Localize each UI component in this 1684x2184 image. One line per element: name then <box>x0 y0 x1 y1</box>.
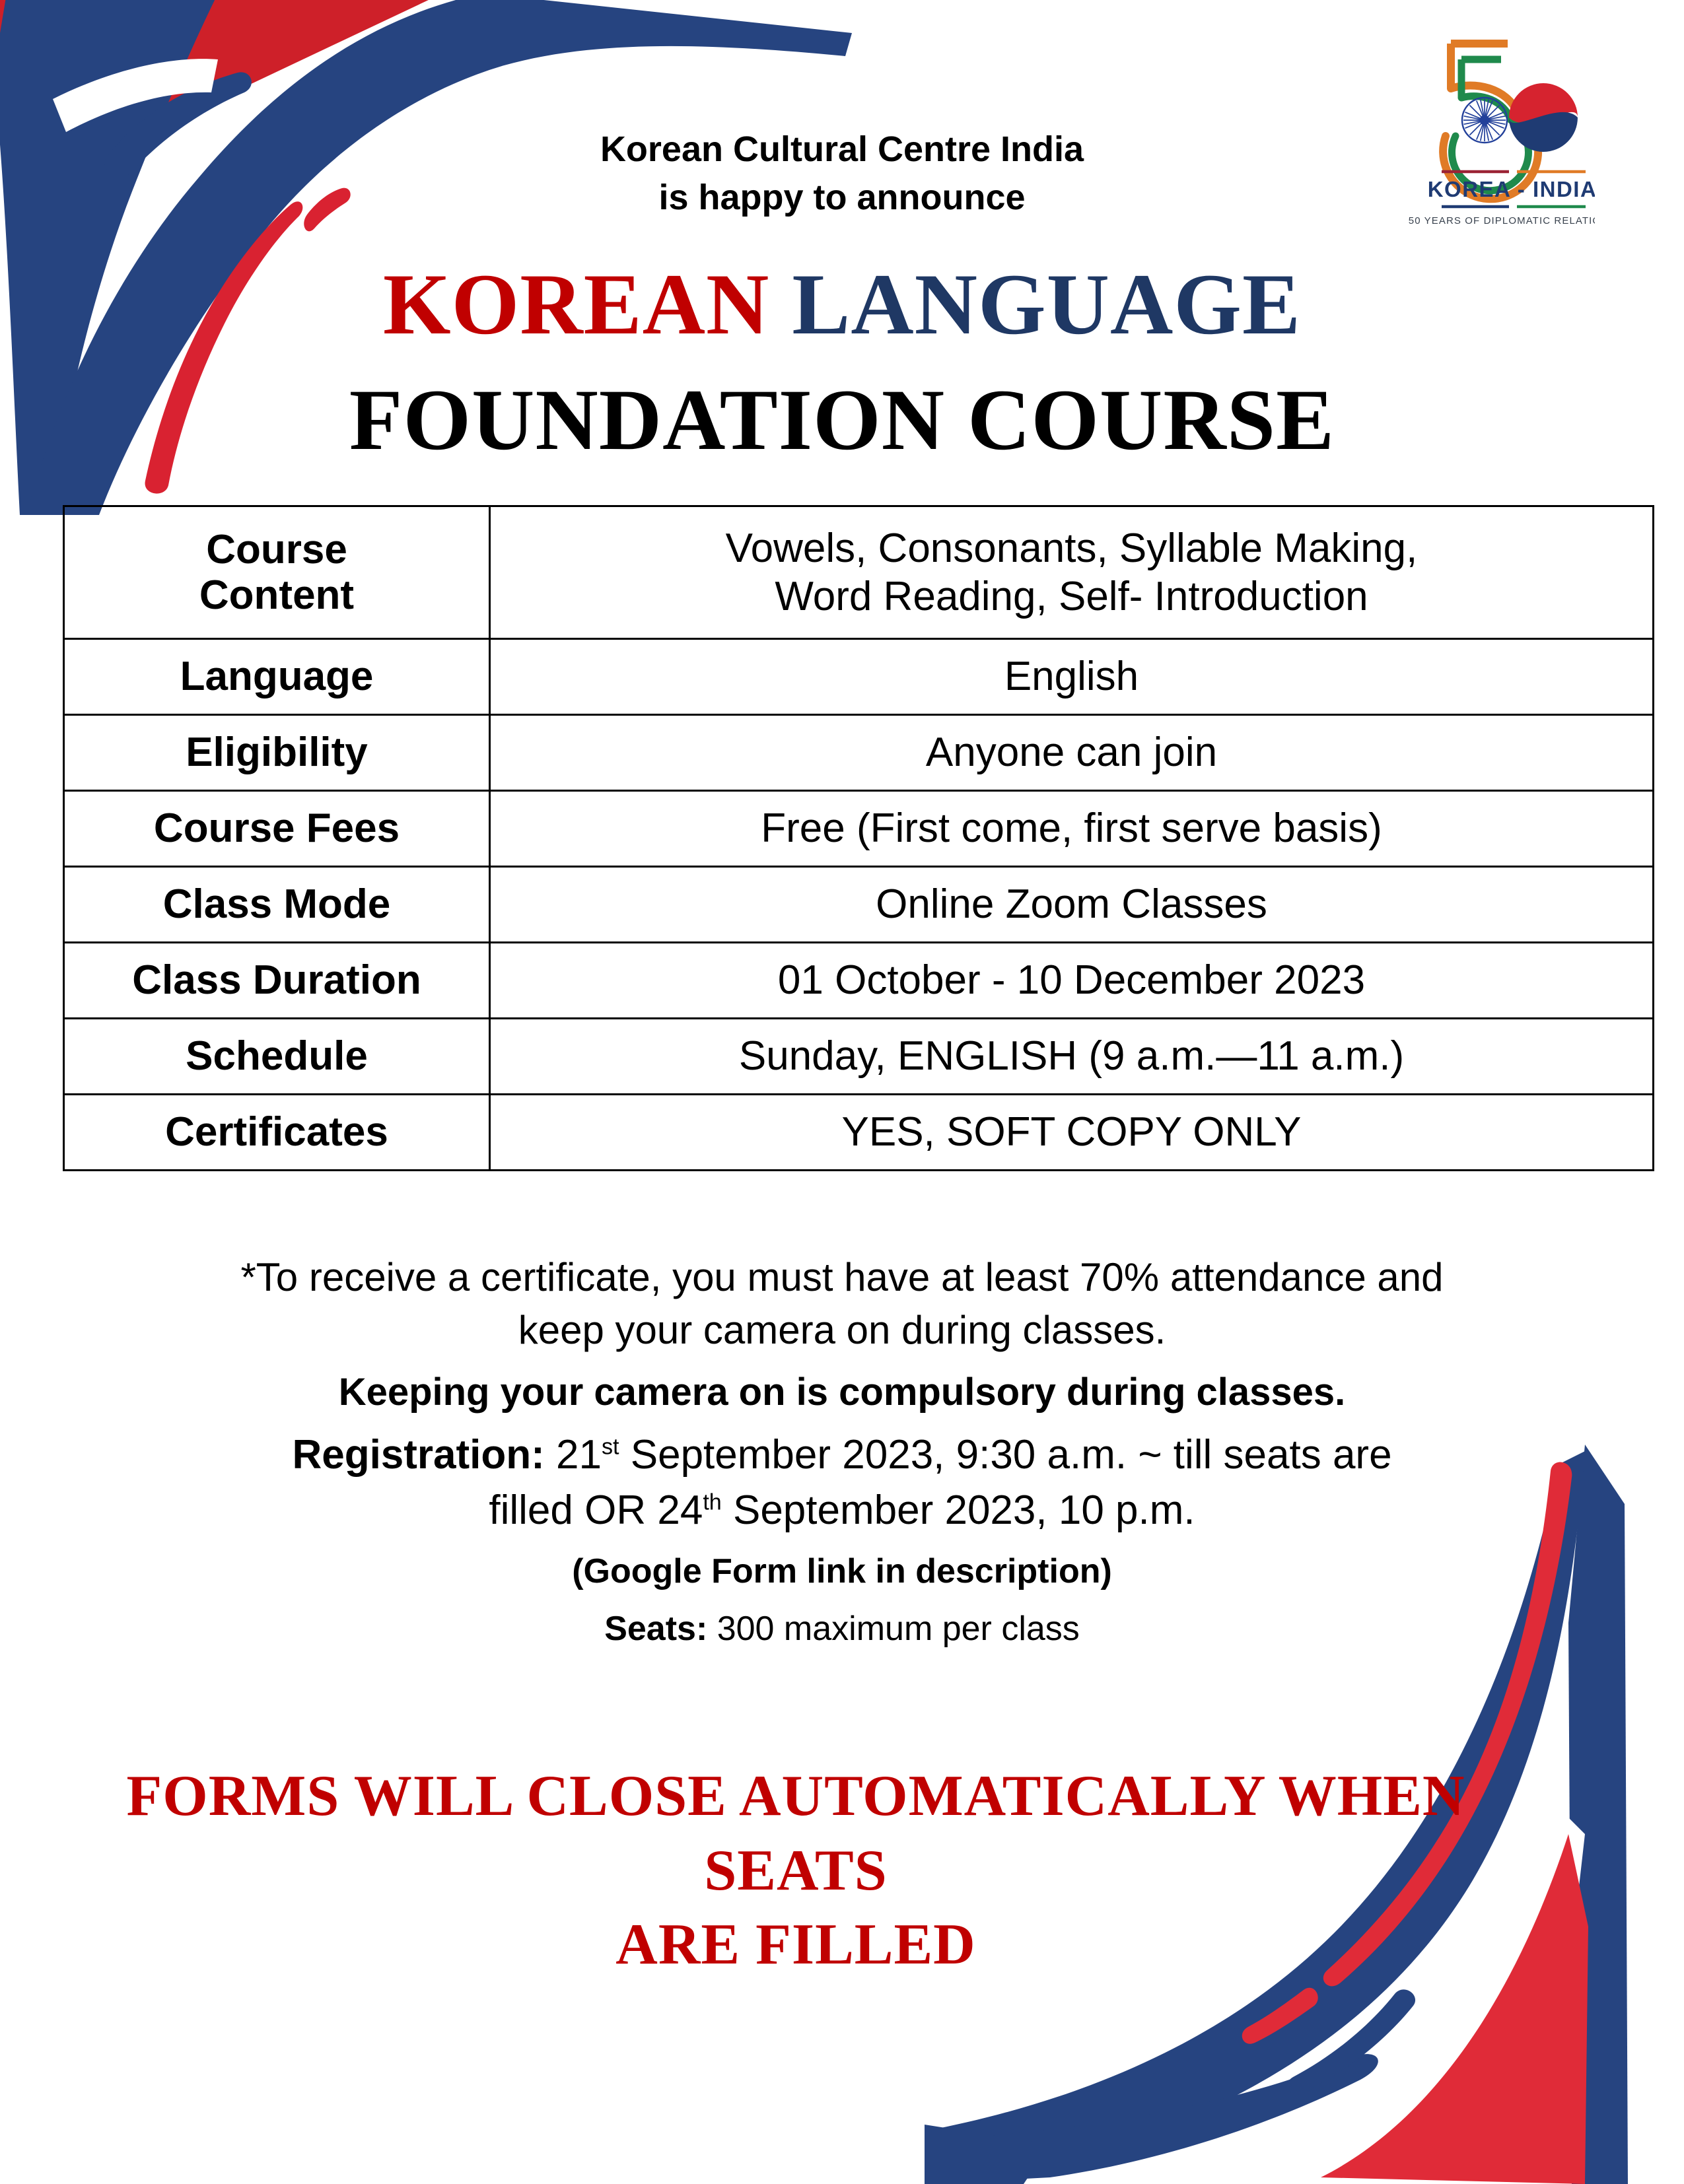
announcement-header: Korean Cultural Centre India is happy to… <box>0 125 1684 222</box>
page-subtitle: FOUNDATION COURSE <box>0 376 1684 463</box>
registration-text-2: September 2023, 10 p.m. <box>722 1487 1195 1533</box>
table-row: Eligibility Anyone can join <box>64 715 1654 791</box>
registration-day-1: 21 <box>556 1432 602 1478</box>
seats-value: 300 maximum per class <box>707 1610 1080 1648</box>
row-label-class-duration: Class Duration <box>64 943 490 1019</box>
notes-section: *To receive a certificate, you must have… <box>40 1251 1644 1652</box>
row-value-language: English <box>490 639 1654 715</box>
value-line-2: Word Reading, Self- Introduction <box>500 572 1643 621</box>
registration-text-1: September 2023, 9:30 a.m. ~ till seats a… <box>619 1432 1392 1478</box>
course-info-table: Course Content Vowels, Consonants, Sylla… <box>63 505 1654 1171</box>
registration-day-2: 24 <box>657 1487 703 1533</box>
certificate-note-line-2: keep your camera on during classes. <box>40 1304 1644 1357</box>
row-label-eligibility: Eligibility <box>64 715 490 791</box>
table-row: Course Content Vowels, Consonants, Sylla… <box>64 506 1654 639</box>
registration-day-2-suffix: th <box>703 1489 721 1515</box>
registration-label: Registration: <box>292 1432 544 1478</box>
seats-label: Seats: <box>604 1610 707 1648</box>
seats-line: Seats: 300 maximum per class <box>40 1606 1644 1652</box>
registration-day-1-suffix: st <box>602 1434 619 1459</box>
row-value-certificates: YES, SOFT COPY ONLY <box>490 1095 1654 1171</box>
row-value-eligibility: Anyone can join <box>490 715 1654 791</box>
row-label-course-fees: Course Fees <box>64 791 490 867</box>
registration-line-2-prefix: filled OR <box>489 1487 657 1533</box>
table-row: Schedule Sunday, ENGLISH (9 a.m.—11 a.m.… <box>64 1019 1654 1095</box>
row-label-schedule: Schedule <box>64 1019 490 1095</box>
row-label-course-content: Course Content <box>64 506 490 639</box>
table-row: Certificates YES, SOFT COPY ONLY <box>64 1095 1654 1171</box>
certificate-note-line-1: *To receive a certificate, you must have… <box>40 1251 1644 1304</box>
warning-line-1: FORMS WILL CLOSE AUTOMATICALLY WHEN SEAT… <box>53 1759 1539 1908</box>
title-language: LANGUAGE <box>792 256 1301 353</box>
warning-line-2: ARE FILLED <box>53 1908 1539 1983</box>
row-label-class-mode: Class Mode <box>64 867 490 943</box>
org-name: Korean Cultural Centre India <box>0 125 1684 174</box>
value-line-1: Vowels, Consonants, Syllable Making, <box>500 524 1643 572</box>
label-line-1: Course <box>69 527 485 572</box>
table-row: Class Duration 01 October - 10 December … <box>64 943 1654 1019</box>
page-title: KOREAN LANGUAGE <box>0 261 1684 348</box>
announce-subline: is happy to announce <box>0 174 1684 222</box>
table-row: Class Mode Online Zoom Classes <box>64 867 1654 943</box>
row-value-schedule: Sunday, ENGLISH (9 a.m.—11 a.m.) <box>490 1019 1654 1095</box>
row-label-certificates: Certificates <box>64 1095 490 1171</box>
registration-line-2: filled OR 24th September 2023, 10 p.m. <box>40 1483 1644 1538</box>
row-value-class-mode: Online Zoom Classes <box>490 867 1654 943</box>
title-korean: KOREAN <box>383 256 792 353</box>
label-line-2: Content <box>69 572 485 618</box>
google-form-note: (Google Form link in description) <box>40 1548 1644 1594</box>
row-label-language: Language <box>64 639 490 715</box>
table-row: Course Fees Free (First come, first serv… <box>64 791 1654 867</box>
row-value-course-fees: Free (First come, first serve basis) <box>490 791 1654 867</box>
registration-line-1: Registration: 21st September 2023, 9:30 … <box>40 1427 1644 1483</box>
table-row: Language English <box>64 639 1654 715</box>
row-value-course-content: Vowels, Consonants, Syllable Making, Wor… <box>490 506 1654 639</box>
camera-compulsory-note: Keeping your camera on is compulsory dur… <box>40 1367 1644 1417</box>
row-value-class-duration: 01 October - 10 December 2023 <box>490 943 1654 1019</box>
warning-section: FORMS WILL CLOSE AUTOMATICALLY WHEN SEAT… <box>53 1759 1539 1983</box>
